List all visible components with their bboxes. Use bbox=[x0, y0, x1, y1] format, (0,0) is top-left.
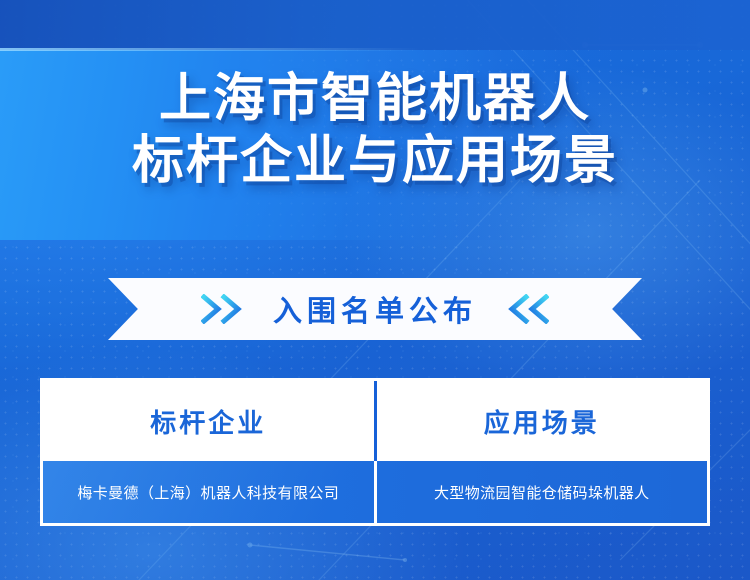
table-header-label: 标杆企业 bbox=[150, 403, 266, 440]
table-cell-company: 梅卡曼德（上海）机器人科技有限公司 bbox=[43, 461, 374, 523]
double-chevron-right-icon bbox=[201, 294, 247, 324]
ribbon-label: 入围名单公布 bbox=[273, 288, 477, 330]
table-cell-label: 大型物流园智能仓储码垛机器人 bbox=[434, 482, 650, 503]
title-band-edge-decoration bbox=[0, 48, 420, 51]
table-header-cell-company: 标杆企业 bbox=[43, 381, 374, 461]
top-strip-decoration bbox=[0, 0, 750, 50]
results-table: 标杆企业 应用场景 梅卡曼德（上海）机器人科技有限公司 大型物流园智能仓储码垛机… bbox=[40, 378, 710, 526]
poster-title: 上海市智能机器人 标杆企业与应用场景 bbox=[0, 68, 750, 192]
table-cell-scenario: 大型物流园智能仓储码垛机器人 bbox=[374, 461, 708, 523]
title-line-1: 上海市智能机器人 bbox=[0, 68, 750, 130]
double-chevron-left-icon bbox=[503, 294, 549, 324]
table-cell-label: 梅卡曼德（上海）机器人科技有限公司 bbox=[77, 482, 339, 503]
table-header-label: 应用场景 bbox=[484, 403, 600, 440]
announcement-ribbon: 入围名单公布 bbox=[108, 278, 642, 340]
title-line-2: 标杆企业与应用场景 bbox=[0, 130, 750, 192]
poster-canvas: 上海市智能机器人 标杆企业与应用场景 入围名单公布 bbox=[0, 0, 750, 580]
table-row: 梅卡曼德（上海）机器人科技有限公司 大型物流园智能仓储码垛机器人 bbox=[43, 461, 707, 523]
table-header-row: 标杆企业 应用场景 bbox=[43, 381, 707, 461]
table-header-cell-scenario: 应用场景 bbox=[374, 381, 708, 461]
